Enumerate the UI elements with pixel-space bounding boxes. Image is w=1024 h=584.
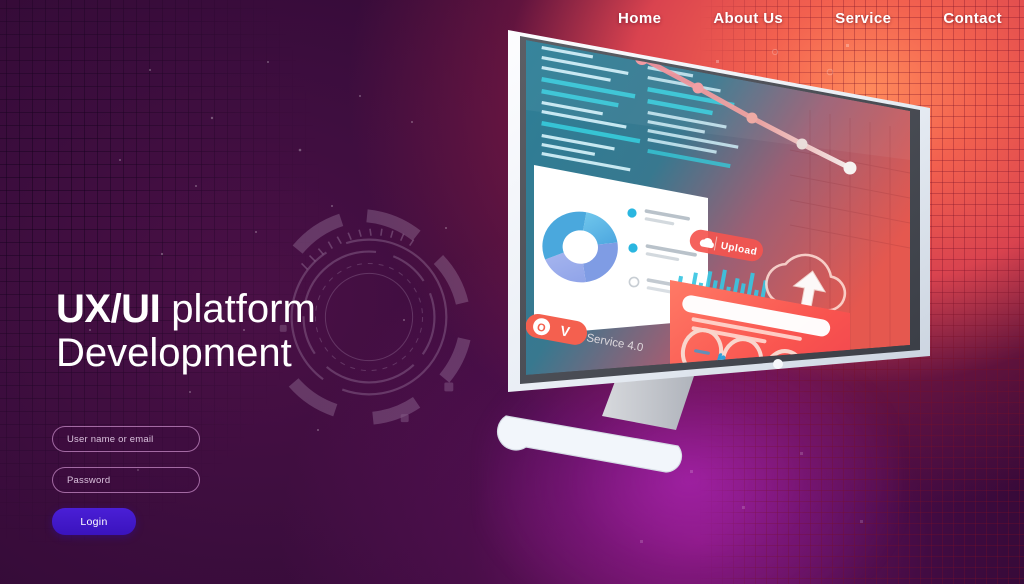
nav-item-about-us[interactable]: About Us: [713, 10, 783, 27]
monitor-illustration: O V Service 4.0 Upload: [430, 0, 1024, 584]
page-title-second-line: Development: [56, 331, 476, 376]
username-input[interactable]: User name or email: [52, 426, 200, 452]
hero-text-block: UX/UI platform Development: [56, 288, 476, 376]
password-input[interactable]: Password: [52, 467, 200, 493]
webcam-dot: [773, 359, 783, 369]
page-title: UX/UI platform: [56, 288, 476, 331]
page-title-strong: UX/UI: [56, 287, 160, 331]
page-title-light: platform: [160, 287, 316, 331]
login-button[interactable]: Login: [52, 508, 136, 535]
password-placeholder: Password: [67, 475, 110, 486]
username-placeholder: User name or email: [67, 434, 154, 445]
nav-item-home[interactable]: Home: [618, 10, 661, 27]
nav-item-service[interactable]: Service: [835, 10, 891, 27]
nav-item-contact[interactable]: Contact: [943, 10, 1002, 27]
main-navigation: Home About Us Service Contact: [618, 10, 1002, 27]
login-form: User name or email Password Login: [52, 426, 200, 535]
line-chart-node: [844, 162, 857, 175]
landing-page-hero: Home About Us Service Contact: [0, 0, 1024, 584]
